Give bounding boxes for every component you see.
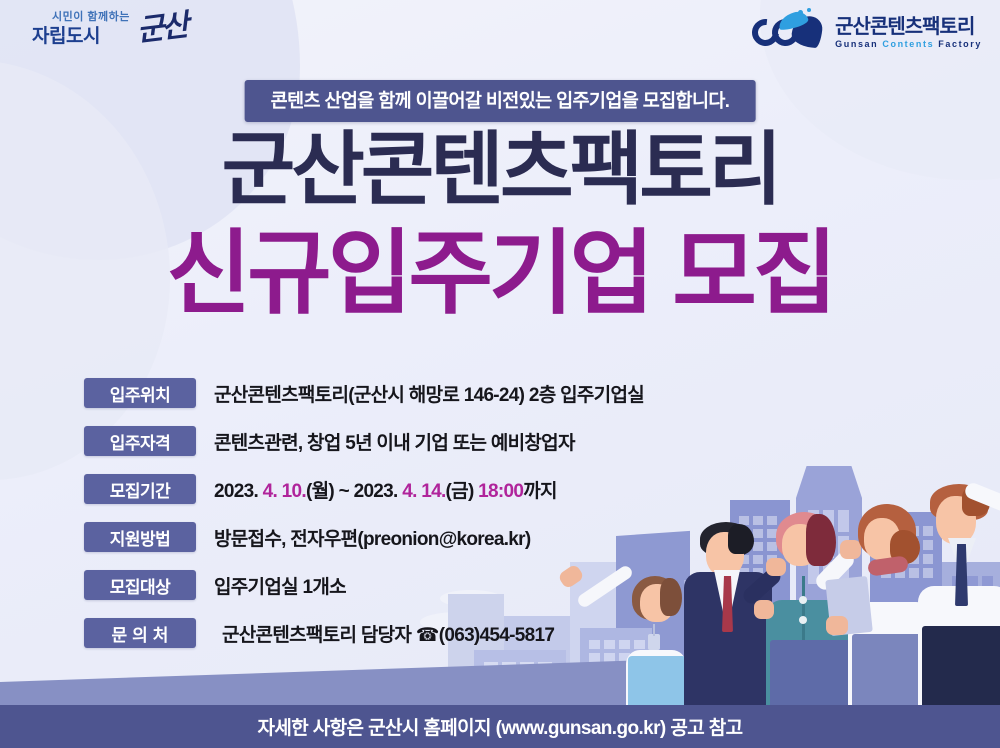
info-value-location: 군산콘텐츠팩토리(군산시 해망로 146-24) 2층 입주기업실 (214, 380, 644, 407)
info-value-period: 2023. 4. 10.(월) ~ 2023. 4. 14.(금) 18:00까… (214, 476, 557, 503)
gcf-name-en: Gunsan Contents Factory (835, 40, 982, 49)
gcf-en-gunsan: Gunsan (835, 39, 882, 49)
headline-banner: 콘텐츠 산업을 함께 이끌어갈 비전있는 입주기업을 모집합니다. (245, 80, 756, 122)
info-value-eligibility: 콘텐츠관련, 창업 5년 이내 기업 또는 예비창업자 (214, 428, 575, 455)
info-label-target: 모집대상 (84, 570, 196, 600)
info-row-location: 입주위치 군산콘텐츠팩토리(군산시 해망로 146-24) 2층 입주기업실 (84, 374, 904, 412)
info-row-eligibility: 입주자격 콘텐츠관련, 창업 5년 이내 기업 또는 예비창업자 (84, 422, 904, 460)
title-line-2-part-b: 모집 (672, 223, 833, 325)
gcf-logo-icon (752, 14, 826, 52)
person-man-saluting (908, 484, 1000, 712)
info-label-location: 입주위치 (84, 378, 196, 408)
period-segment-0: 2023. (214, 481, 263, 502)
info-label-eligibility: 입주자격 (84, 426, 196, 456)
period-segment-5: 18:00 (478, 481, 523, 502)
gunsan-city-ci: 시민이 함께하는 자립도시 군산 (22, 12, 192, 66)
ci-brush-wordmark: 군산 (135, 11, 187, 47)
info-row-period: 모집기간 2023. 4. 10.(월) ~ 2023. 4. 14.(금) 1… (84, 470, 904, 508)
gcf-name-ko: 군산콘텐츠팩토리 (835, 17, 982, 38)
period-segment-3: 4. 14. (402, 481, 445, 502)
info-value-target: 입주기업실 1개소 (214, 572, 346, 599)
info-label-contact: 문의처 (84, 618, 196, 648)
footer-bar: 자세한 사항은 군산시 홈페이지 (www.gunsan.go.kr) 공고 참… (0, 705, 1000, 748)
info-row-contact: 문의처 군산콘텐츠팩토리 담당자 ☎(063)454-5817 (84, 614, 904, 652)
title-line-2-part-a: 신규입주기업 (166, 223, 650, 325)
title-line-1: 군산콘텐츠팩토리 (0, 130, 1000, 210)
info-list: 입주위치 군산콘텐츠팩토리(군산시 해망로 146-24) 2층 입주기업실 입… (84, 374, 904, 662)
info-label-period: 모집기간 (84, 474, 196, 504)
title-line-2: 신규입주기업모집 (0, 228, 1000, 320)
gcf-en-contents: Contents (882, 39, 938, 49)
period-segment-4: (금) (446, 481, 479, 502)
period-segment-6: 까지 (523, 481, 557, 502)
info-row-method: 지원방법 방문접수, 전자우편(preonion@korea.kr) (84, 518, 904, 556)
gcf-logo-text: 군산콘텐츠팩토리 Gunsan Contents Factory (835, 17, 982, 49)
info-value-contact: 군산콘텐츠팩토리 담당자 ☎(063)454-5817 (222, 620, 554, 647)
poster-root: 시민이 함께하는 자립도시 군산 군산콘텐츠팩토리 Gunsan Content… (0, 0, 1000, 748)
period-segment-1: 4. 10. (263, 481, 306, 502)
gcf-en-factory: Factory (938, 39, 982, 49)
gcf-logo: 군산콘텐츠팩토리 Gunsan Contents Factory (752, 14, 982, 52)
period-segment-2: (월) ~ 2023. (306, 481, 402, 502)
info-row-target: 모집대상 입주기업실 1개소 (84, 566, 904, 604)
info-label-method: 지원방법 (84, 522, 196, 552)
info-value-method: 방문접수, 전자우편(preonion@korea.kr) (214, 524, 531, 551)
